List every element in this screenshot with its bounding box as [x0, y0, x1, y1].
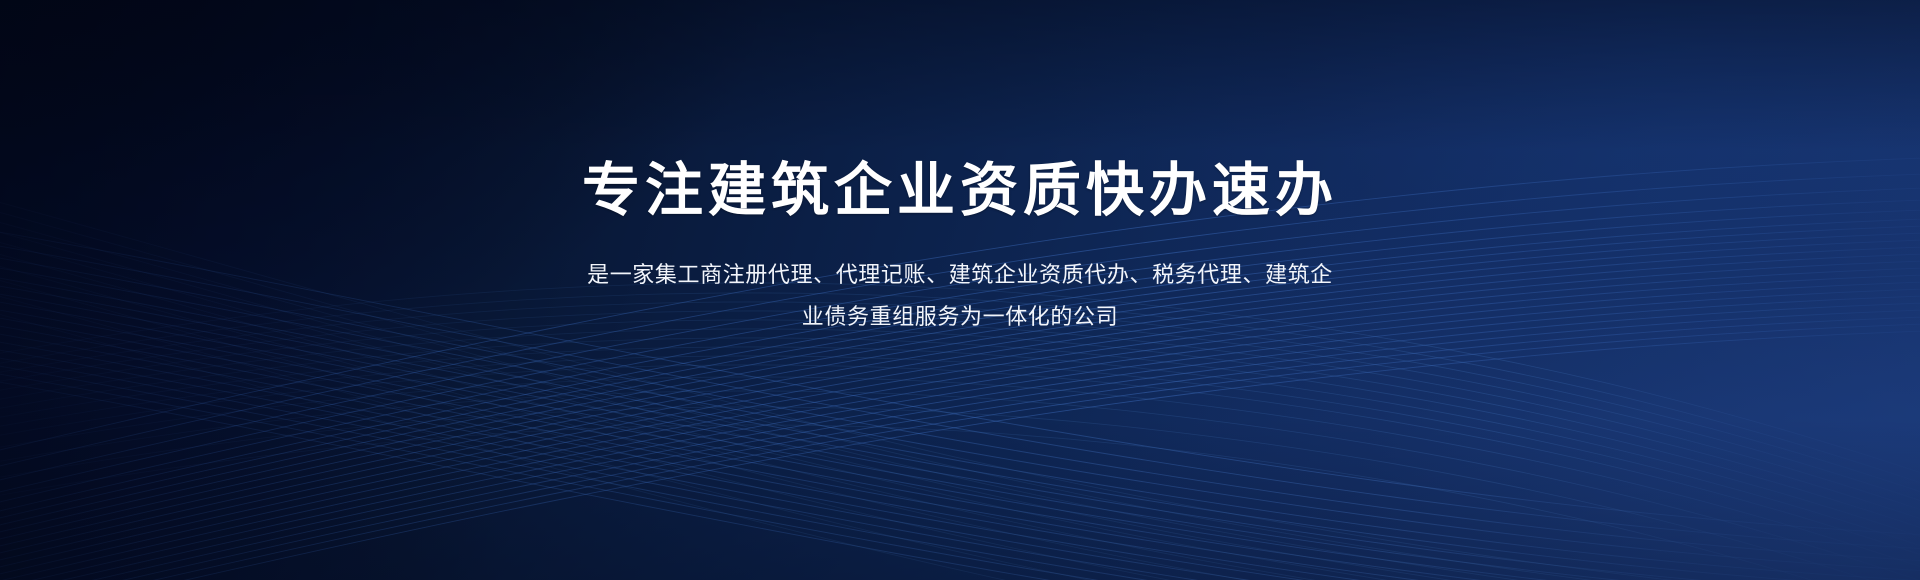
banner-headline: 专注建筑企业资质快办速办 — [582, 162, 1338, 220]
hero-banner: 专注建筑企业资质快办速办 是一家集工商注册代理、代理记账、建筑企业资质代办、税务… — [0, 0, 1920, 580]
banner-subtitle: 是一家集工商注册代理、代理记账、建筑企业资质代办、税务代理、建筑企 业债务重组服… — [510, 254, 1410, 338]
banner-subtitle-line-1: 是一家集工商注册代理、代理记账、建筑企业资质代办、税务代理、建筑企 — [510, 254, 1410, 296]
banner-subtitle-line-2: 业债务重组服务为一体化的公司 — [510, 296, 1410, 338]
banner-content: 专注建筑企业资质快办速办 是一家集工商注册代理、代理记账、建筑企业资质代办、税务… — [0, 0, 1920, 580]
